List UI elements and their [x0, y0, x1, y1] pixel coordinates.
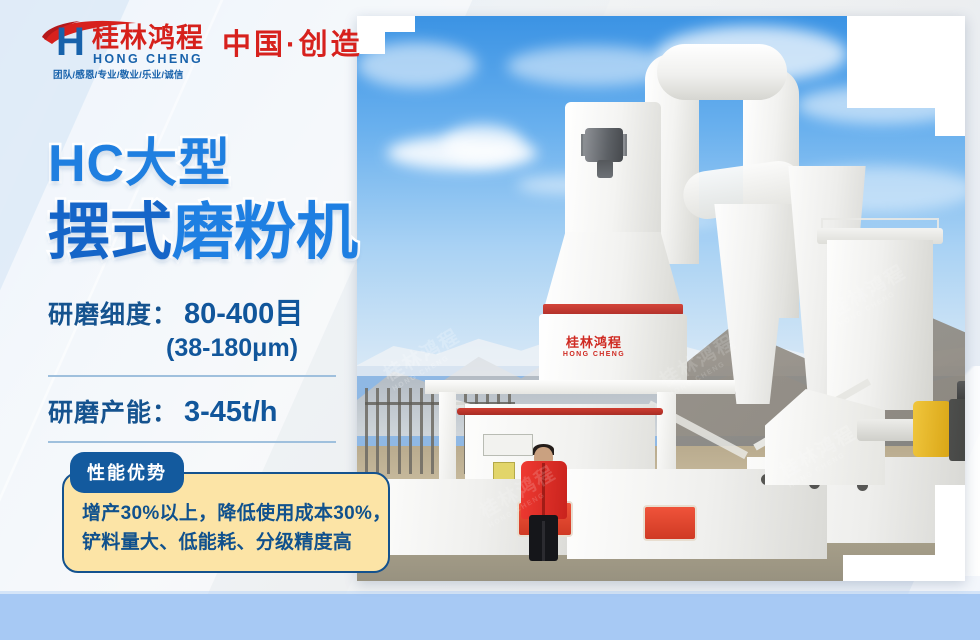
company-logo[interactable]: H 桂林鸿程 HONG CHENG 团队/感恩/专业/敬业/乐业/诚信: [40, 12, 200, 78]
equipment-nameplate: [483, 434, 533, 456]
product-photo[interactable]: 桂林鸿程 HONG CHENG: [357, 16, 965, 581]
advantage-tab-label: 性能优势: [70, 452, 184, 493]
headline-line-2-part-b: 磨粉机: [172, 198, 358, 267]
content-column: HC大型 摆式磨粉机 研磨细度： 80-400目 (38-180μm) 研磨产能…: [48, 138, 378, 443]
photo-corner-notch-bottom-right: [843, 555, 965, 581]
person-jacket-zipper: [542, 463, 545, 517]
headline-line-2-part-a: 摆式: [48, 198, 172, 267]
machine-brand-mark: 桂林鸿程 HONG CHENG: [553, 336, 635, 359]
logo-tagline: 团队/感恩/专业/敬业/乐业/诚信: [53, 67, 184, 81]
bottom-bar: [0, 594, 980, 640]
headline-line-1: HC大型: [48, 138, 378, 190]
spec-capacity: 研磨产能： 3-45t/h: [48, 393, 378, 443]
brand-slogan: 中国·创造: [222, 21, 363, 63]
support-platform: [425, 380, 735, 394]
photo-corner-notch-top-left: [357, 16, 415, 32]
promo-banner: H 桂林鸿程 HONG CHENG 团队/感恩/专业/敬业/乐业/诚信 中国·创…: [0, 0, 980, 640]
spec-capacity-label: 研磨产能：: [48, 393, 178, 429]
photo-corner-notch-top-right: [847, 16, 965, 108]
cloud: [443, 124, 523, 164]
classifier-motor: [585, 128, 623, 162]
logo-letter-h: H: [56, 22, 83, 62]
silo-tank: [827, 240, 933, 410]
spec-capacity-value: 3-45t/h: [184, 396, 277, 429]
spec-fineness: 研磨细度： 80-400目 (38-180μm): [48, 290, 378, 377]
spec-capacity-row: 研磨产能： 3-45t/h: [48, 393, 378, 429]
machine-brand-cn: 桂林鸿程: [553, 336, 635, 350]
spec-fineness-sub: (38-180μm): [166, 334, 378, 363]
spec-fineness-label: 研磨细度：: [48, 295, 178, 331]
main-drive-motor: [949, 399, 965, 461]
headline-line-2: 摆式磨粉机: [48, 202, 378, 264]
classifier-cone: [543, 232, 683, 312]
access-hatch: [643, 505, 697, 541]
classifier-motor-coupling: [597, 160, 613, 178]
yellow-pulley-guard: [913, 401, 951, 457]
spec-divider-2: [48, 441, 336, 443]
duct-elbow-top: [657, 44, 787, 100]
machine-brand-en: HONG CHENG: [553, 350, 635, 359]
classifier-tower: [565, 102, 661, 252]
advantage-line-1: 增产30%以上，降低使用成本30%，: [82, 500, 372, 529]
advantage-line-2: 铲料量大、低能耗、分级精度高: [82, 529, 372, 558]
logo-name-en: HONG CHENG: [93, 52, 203, 66]
brand-header: H 桂林鸿程 HONG CHENG 团队/感恩/专业/敬业/乐业/诚信 中国·创…: [40, 12, 363, 78]
spec-fineness-row: 研磨细度： 80-400目: [48, 290, 378, 332]
spec-fineness-value: 80-400目: [184, 290, 303, 332]
person-leg-gap: [542, 521, 545, 561]
spec-divider-1: [48, 375, 336, 377]
red-service-pipe: [457, 408, 663, 415]
logo-name-cn: 桂林鸿程: [92, 23, 204, 53]
